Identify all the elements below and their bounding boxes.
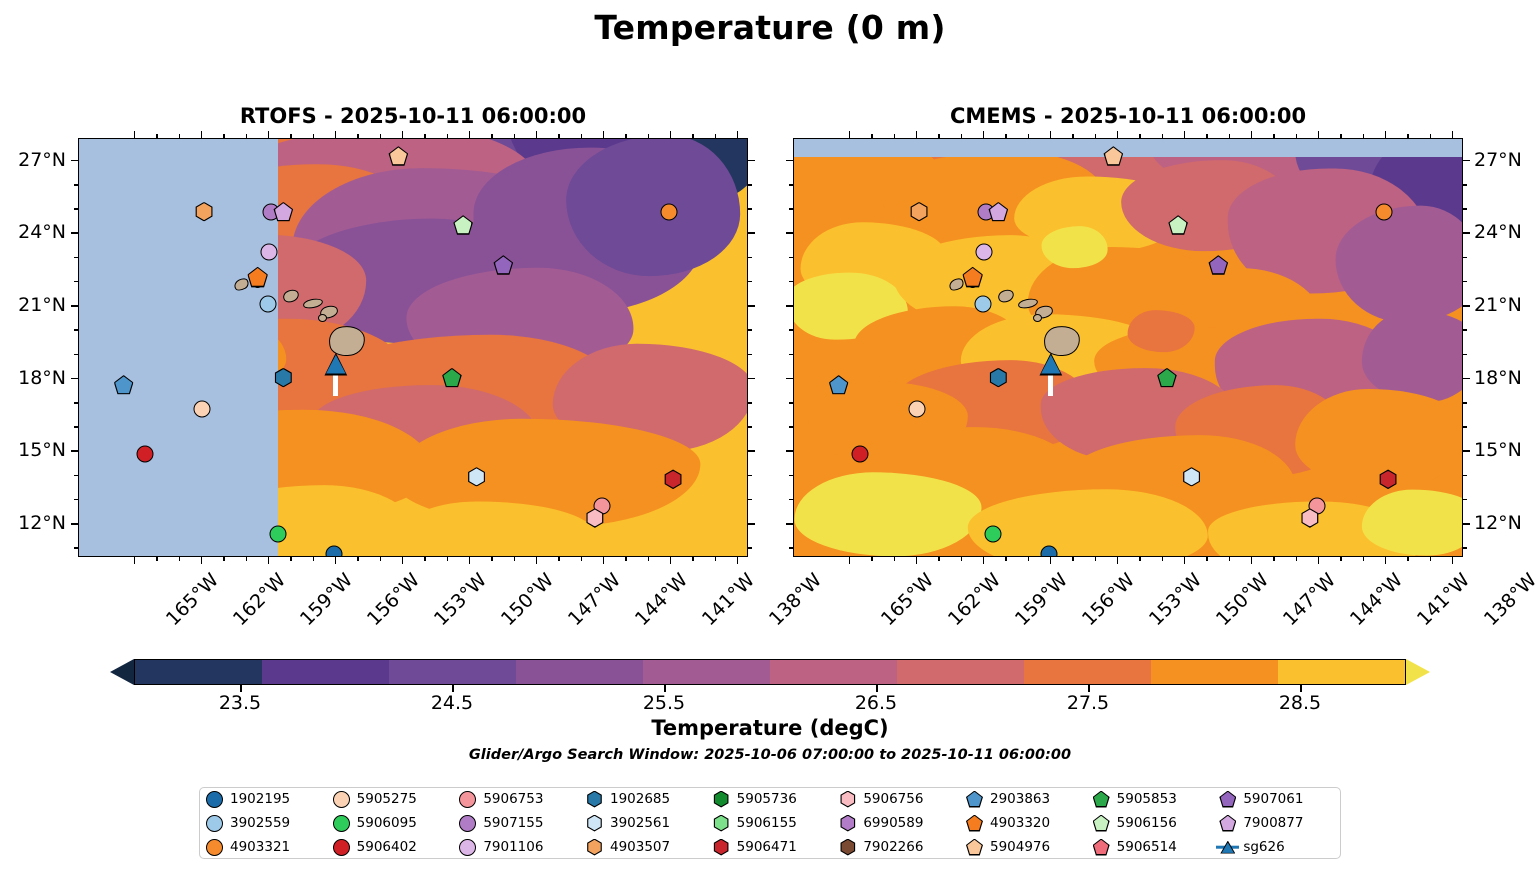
marker-4903507-fill xyxy=(196,203,213,220)
legend-item-5906402[interactable]: 5906402 xyxy=(327,835,454,859)
panel-title-cmems: CMEMS - 2025-10-11 06:00:00 xyxy=(793,104,1463,128)
x-tick-label: 141°W xyxy=(698,569,759,630)
x-tick-minor xyxy=(648,557,650,561)
x-tick-minor xyxy=(313,557,315,561)
legend-hex-outline xyxy=(586,839,603,856)
colorbar-band-3 xyxy=(516,660,643,684)
legend-marker-circle-icon xyxy=(333,839,350,856)
y-tick-major xyxy=(748,160,755,162)
x-tick-minor xyxy=(715,557,717,561)
legend-label: 5907155 xyxy=(483,815,543,831)
y-tick-major xyxy=(71,305,78,307)
colorbar-tick xyxy=(876,685,878,692)
legend-label: 1902685 xyxy=(610,791,670,807)
no-data-region-rtofs xyxy=(79,139,278,556)
temperature-contour-blob xyxy=(1362,489,1462,556)
legend-hex-outline xyxy=(586,815,603,832)
legend-label: 3902561 xyxy=(610,815,670,831)
x-tick-major-top xyxy=(1050,131,1052,138)
legend-marker-circle-icon xyxy=(206,839,223,856)
y-tick-minor xyxy=(1463,475,1467,477)
x-tick-major-top xyxy=(268,131,270,138)
legend-item-sg626[interactable]: sg626 xyxy=(1213,835,1340,859)
x-tick-minor xyxy=(871,557,873,561)
marker-3902561-fill xyxy=(1183,468,1200,485)
x-tick-minor xyxy=(357,557,359,561)
x-tick-label: 153°W xyxy=(430,569,491,630)
x-tick-major-top xyxy=(1385,131,1387,138)
x-tick-label: 150°W xyxy=(1212,569,1273,630)
x-tick-minor xyxy=(1229,557,1231,561)
x-tick-label: 150°W xyxy=(497,569,558,630)
hawaii-island-outline xyxy=(1033,314,1042,322)
legend-item-4903320[interactable]: 4903320 xyxy=(960,811,1087,835)
legend-marker-circle-icon xyxy=(206,815,223,832)
legend-marker-pent-icon xyxy=(966,815,983,832)
legend-hex-fill xyxy=(841,816,855,830)
x-tick-minor xyxy=(1340,557,1342,561)
temperature-contour-blob xyxy=(567,139,741,277)
legend-label: 5906156 xyxy=(1117,815,1177,831)
y-tick-major xyxy=(748,450,755,452)
x-tick-label: 165°W xyxy=(162,569,223,630)
x-tick-label: 162°W xyxy=(229,569,290,630)
y-tick-minor xyxy=(748,184,752,186)
x-tick-minor xyxy=(581,557,583,561)
colorbar-extend-high xyxy=(1406,659,1430,685)
legend-item-3902559[interactable]: 3902559 xyxy=(200,811,327,835)
x-tick-minor xyxy=(1028,557,1030,561)
x-tick-major xyxy=(201,557,203,564)
x-tick-label: 141°W xyxy=(1413,569,1474,630)
marker-5906471-fill xyxy=(1380,471,1397,488)
x-tick-major xyxy=(737,557,739,564)
legend-hex-outline xyxy=(713,815,730,832)
legend-marker-pent-icon xyxy=(966,839,983,856)
y-tick-minor xyxy=(748,426,752,428)
y-tick-minor xyxy=(1463,402,1467,404)
legend-hex-outline xyxy=(586,791,603,808)
legend-label: 5906514 xyxy=(1117,839,1177,855)
marker-5906095[interactable] xyxy=(269,525,286,542)
legend-pent-outline xyxy=(1093,839,1110,856)
legend-item-2903863[interactable]: 2903863 xyxy=(960,787,1087,811)
legend-label: 4903321 xyxy=(230,839,290,855)
temperature-contour-blob xyxy=(1128,310,1195,352)
legend-label: 5906471 xyxy=(737,839,797,855)
legend-circle-icon xyxy=(459,791,476,808)
legend-pent-fill xyxy=(1094,792,1108,806)
y-tick-label-right: 15°N xyxy=(1474,439,1540,461)
y-tick-major xyxy=(748,232,755,234)
legend-marker-pent-icon xyxy=(1093,791,1110,808)
y-tick-major xyxy=(1463,232,1470,234)
legend-item-1902685[interactable]: 1902685 xyxy=(580,787,707,811)
x-tick-minor xyxy=(625,557,627,561)
x-tick-minor xyxy=(447,557,449,561)
legend-label: sg626 xyxy=(1243,839,1284,855)
x-tick-major xyxy=(670,557,672,564)
y-tick-minor xyxy=(748,402,752,404)
x-tick-label: 144°W xyxy=(631,569,692,630)
x-tick-major-top xyxy=(1117,131,1119,138)
legend-hex-outline xyxy=(713,839,730,856)
legend-item-7902266[interactable]: 7902266 xyxy=(833,835,960,859)
marker-1902195[interactable] xyxy=(325,546,342,556)
glider-track-line xyxy=(1048,374,1053,396)
y-tick-major xyxy=(1463,378,1470,380)
legend-item-5904976[interactable]: 5904976 xyxy=(960,835,1087,859)
y-tick-minor xyxy=(1463,184,1467,186)
x-tick-label: 147°W xyxy=(564,569,625,630)
legend-pent-outline xyxy=(966,791,983,808)
colorbar-band-4 xyxy=(643,660,770,684)
legend-pent-outline xyxy=(966,815,983,832)
y-tick-major xyxy=(71,450,78,452)
legend-circle-icon xyxy=(333,839,350,856)
marker-5906402[interactable] xyxy=(851,445,868,462)
y-tick-major xyxy=(71,232,78,234)
legend-marker-circle-icon xyxy=(459,839,476,856)
legend-hex-outline xyxy=(713,791,730,808)
colorbar-extend-low xyxy=(110,659,134,685)
legend-marker-hex-icon xyxy=(586,791,603,808)
x-tick-label: 162°W xyxy=(944,569,1005,630)
x-tick-major xyxy=(1117,557,1119,564)
legend-marker-pent-icon xyxy=(966,791,983,808)
x-tick-label: 153°W xyxy=(1145,569,1206,630)
y-tick-label-left: 27°N xyxy=(0,149,66,171)
x-tick-major-top xyxy=(1251,131,1253,138)
colorbar-band-1 xyxy=(262,660,389,684)
x-tick-major xyxy=(134,557,136,564)
y-tick-minor xyxy=(748,329,752,331)
colorbar-tick xyxy=(1300,685,1302,692)
legend-item-5906471[interactable]: 5906471 xyxy=(707,835,834,859)
x-tick-major xyxy=(1050,557,1052,564)
legend-pent-fill xyxy=(967,840,981,854)
colorbar-band-7 xyxy=(1024,660,1151,684)
x-tick-minor xyxy=(961,557,963,561)
x-tick-minor xyxy=(156,557,158,561)
x-tick-label: 147°W xyxy=(1279,569,1340,630)
legend-marker-hex-icon xyxy=(713,815,730,832)
legend-item-6990589[interactable]: 6990589 xyxy=(833,811,960,835)
colorbar-tick-label: 26.5 xyxy=(855,692,897,714)
x-tick-major-top xyxy=(1184,131,1186,138)
legend-pent-fill xyxy=(1094,840,1108,854)
legend-marker-hex-icon xyxy=(839,791,856,808)
glider-track-line xyxy=(333,374,338,396)
legend-label: 5905736 xyxy=(737,791,797,807)
y-tick-major xyxy=(71,523,78,525)
legend-label: 5906155 xyxy=(737,815,797,831)
x-tick-minor xyxy=(692,557,694,561)
y-tick-minor xyxy=(1463,499,1467,501)
legend-item-5906514[interactable]: 5906514 xyxy=(1087,835,1214,859)
y-tick-minor xyxy=(748,547,752,549)
legend-hex-outline xyxy=(839,791,856,808)
y-tick-minor xyxy=(1463,354,1467,356)
x-tick-major xyxy=(1251,557,1253,564)
legend-item-5905275[interactable]: 5905275 xyxy=(327,787,454,811)
marker-5905275[interactable] xyxy=(908,401,925,418)
marker-7901106[interactable] xyxy=(975,243,992,260)
legend-marker-hex-icon xyxy=(713,791,730,808)
y-tick-major xyxy=(748,523,755,525)
temperature-contour-blob xyxy=(1295,389,1462,489)
colorbar xyxy=(110,659,1430,685)
x-tick-minor xyxy=(1095,557,1097,561)
marker-1902195[interactable] xyxy=(1040,546,1057,556)
y-tick-minor xyxy=(748,475,752,477)
colorbar-tick-label: 23.5 xyxy=(219,692,261,714)
legend-pent-outline xyxy=(1219,791,1236,808)
legend-marker-circle-icon xyxy=(459,815,476,832)
legend-hex-outline xyxy=(839,815,856,832)
legend-label: 1902195 xyxy=(230,791,290,807)
x-tick-major-top xyxy=(737,131,739,138)
legend-item-5905853[interactable]: 5905853 xyxy=(1087,787,1214,811)
x-tick-major-top xyxy=(983,131,985,138)
y-tick-label-right: 18°N xyxy=(1474,367,1540,389)
temperature-contour-blob xyxy=(1041,227,1108,269)
y-tick-label-left: 12°N xyxy=(0,512,66,534)
colorbar-band-5 xyxy=(770,660,897,684)
legend-label: 5906756 xyxy=(863,791,923,807)
legend-circle-icon xyxy=(459,815,476,832)
x-tick-minor xyxy=(1430,557,1432,561)
legend-hex-fill xyxy=(587,816,601,830)
x-tick-minor xyxy=(1072,557,1074,561)
legend-pent-fill xyxy=(1221,816,1235,830)
x-tick-major xyxy=(1452,557,1454,564)
y-tick-label-left: 21°N xyxy=(0,294,66,316)
legend-item-7901106[interactable]: 7901106 xyxy=(453,835,580,859)
x-tick-label: 156°W xyxy=(1078,569,1139,630)
marker-7901106[interactable] xyxy=(260,243,277,260)
legend-marker-pent-icon xyxy=(1093,815,1110,832)
legend-item-4903507[interactable]: 4903507 xyxy=(580,835,707,859)
platform-legend: 1902195590527559067531902685590573659067… xyxy=(199,787,1341,859)
legend-marker-circle-icon xyxy=(206,791,223,808)
legend-marker-pent-icon xyxy=(1093,839,1110,856)
legend-marker-circle-icon xyxy=(459,791,476,808)
legend-pent-fill xyxy=(967,792,981,806)
legend-item-5907155[interactable]: 5907155 xyxy=(453,811,580,835)
legend-label: 5905853 xyxy=(1117,791,1177,807)
x-tick-minor xyxy=(558,557,560,561)
legend-circle-icon xyxy=(206,791,223,808)
x-tick-major-top xyxy=(603,131,605,138)
y-tick-minor xyxy=(1463,281,1467,283)
x-tick-minor xyxy=(1162,557,1164,561)
hawaii-island-outline xyxy=(318,314,327,322)
legend-marker-pent-icon xyxy=(1219,791,1236,808)
y-tick-major xyxy=(786,305,793,307)
colorbar-tick-label: 24.5 xyxy=(431,692,473,714)
legend-circle-icon xyxy=(333,815,350,832)
legend-circle-icon xyxy=(333,791,350,808)
legend-circle-icon xyxy=(206,815,223,832)
x-tick-major xyxy=(1385,557,1387,564)
panel-title-rtofs: RTOFS - 2025-10-11 06:00:00 xyxy=(78,104,748,128)
y-tick-label-left: 15°N xyxy=(0,439,66,461)
colorbar-bands xyxy=(134,659,1406,685)
x-tick-minor xyxy=(424,557,426,561)
x-tick-minor xyxy=(1273,557,1275,561)
legend-item-4903321[interactable]: 4903321 xyxy=(200,835,327,859)
colorbar-tick xyxy=(664,685,666,692)
legend-item-5906753[interactable]: 5906753 xyxy=(453,787,580,811)
y-tick-label-right: 24°N xyxy=(1474,221,1540,243)
map-panel-rtofs[interactable] xyxy=(78,138,748,557)
marker-3902561-fill xyxy=(468,468,485,485)
legend-pent-fill xyxy=(1221,792,1235,806)
legend-item-3902561[interactable]: 3902561 xyxy=(580,811,707,835)
x-tick-major xyxy=(983,557,985,564)
legend-hex-fill xyxy=(841,840,855,854)
x-tick-minor xyxy=(514,557,516,561)
x-tick-minor xyxy=(1296,557,1298,561)
y-tick-minor xyxy=(748,499,752,501)
x-tick-major-top xyxy=(849,131,851,138)
x-tick-label: 156°W xyxy=(363,569,424,630)
x-tick-major-top xyxy=(1318,131,1320,138)
y-tick-minor xyxy=(748,354,752,356)
y-tick-major xyxy=(786,450,793,452)
x-tick-major-top xyxy=(201,131,203,138)
marker-1902685-fill xyxy=(990,369,1007,386)
legend-item-7900877[interactable]: 7900877 xyxy=(1213,811,1340,835)
x-tick-minor xyxy=(1407,557,1409,561)
y-tick-major xyxy=(786,160,793,162)
x-tick-minor xyxy=(223,557,225,561)
marker-4903321[interactable] xyxy=(1375,203,1392,220)
colorbar-tick-label: 28.5 xyxy=(1279,692,1321,714)
y-tick-minor xyxy=(1463,547,1467,549)
colorbar-tick xyxy=(240,685,242,692)
x-tick-major-top xyxy=(134,131,136,138)
colorbar-tick xyxy=(1088,685,1090,692)
x-tick-major xyxy=(402,557,404,564)
y-tick-minor xyxy=(748,257,752,259)
y-tick-major xyxy=(786,523,793,525)
legend-label: 2903863 xyxy=(990,791,1050,807)
legend-marker-circle-icon xyxy=(333,791,350,808)
y-tick-major xyxy=(1463,450,1470,452)
marker-5905275[interactable] xyxy=(193,401,210,418)
legend-item-5905736[interactable]: 5905736 xyxy=(707,787,834,811)
legend-item-5906095[interactable]: 5906095 xyxy=(327,811,454,835)
y-tick-major xyxy=(71,378,78,380)
no-data-region-cmems xyxy=(794,139,1462,157)
x-tick-major-top xyxy=(469,131,471,138)
legend-item-5907061[interactable]: 5907061 xyxy=(1213,787,1340,811)
y-tick-minor xyxy=(748,281,752,283)
x-tick-minor xyxy=(179,557,181,561)
legend-item-5906156[interactable]: 5906156 xyxy=(1087,811,1214,835)
marker-3902559[interactable] xyxy=(974,295,991,312)
y-tick-label-right: 12°N xyxy=(1474,512,1540,534)
x-tick-major-top xyxy=(670,131,672,138)
x-tick-label: 144°W xyxy=(1346,569,1407,630)
colorbar-band-6 xyxy=(897,660,1024,684)
y-tick-major xyxy=(786,378,793,380)
legend-pent-outline xyxy=(1093,815,1110,832)
y-tick-label-right: 21°N xyxy=(1474,294,1540,316)
x-tick-label: 159°W xyxy=(296,569,357,630)
legend-hex-fill xyxy=(714,840,728,854)
y-tick-major xyxy=(748,305,755,307)
y-tick-major xyxy=(1463,305,1470,307)
legend-pent-fill xyxy=(1094,816,1108,830)
x-tick-major-top xyxy=(1452,131,1454,138)
map-panel-cmems[interactable] xyxy=(793,138,1463,557)
x-tick-major xyxy=(916,557,918,564)
x-tick-major xyxy=(849,557,851,564)
marker-5906095[interactable] xyxy=(984,525,1001,542)
legend-item-1902195[interactable]: 1902195 xyxy=(200,787,327,811)
colorbar-tick-label: 25.5 xyxy=(643,692,685,714)
x-tick-minor xyxy=(491,557,493,561)
marker-4903507-fill xyxy=(911,203,928,220)
x-tick-major-top xyxy=(536,131,538,138)
legend-label: 3902559 xyxy=(230,815,290,831)
y-tick-minor xyxy=(1463,208,1467,210)
x-tick-minor xyxy=(1005,557,1007,561)
x-tick-major xyxy=(1318,557,1320,564)
y-tick-minor xyxy=(1463,329,1467,331)
page-title: Temperature (0 m) xyxy=(0,8,1540,47)
legend-label: 4903507 xyxy=(610,839,670,855)
legend-label: 5906095 xyxy=(357,815,417,831)
x-tick-minor xyxy=(1363,557,1365,561)
y-tick-major xyxy=(71,160,78,162)
y-tick-minor xyxy=(748,208,752,210)
legend-item-5906756[interactable]: 5906756 xyxy=(833,787,960,811)
marker-5906402[interactable] xyxy=(136,445,153,462)
legend-marker-hex-icon xyxy=(713,839,730,856)
x-tick-label: 165°W xyxy=(877,569,938,630)
y-tick-minor xyxy=(1463,257,1467,259)
colorbar-tick xyxy=(452,685,454,692)
x-tick-major-top xyxy=(402,131,404,138)
legend-label: 5906402 xyxy=(357,839,417,855)
legend-hex-fill xyxy=(587,792,601,806)
legend-marker-circle-icon xyxy=(333,815,350,832)
marker-4903321[interactable] xyxy=(660,203,677,220)
legend-label: 6990589 xyxy=(863,815,923,831)
legend-hex-fill xyxy=(841,792,855,806)
x-tick-minor xyxy=(894,557,896,561)
search-window-caption: Glider/Argo Search Window: 2025-10-06 07… xyxy=(0,747,1540,763)
y-tick-major xyxy=(748,378,755,380)
x-tick-major xyxy=(268,557,270,564)
legend-hex-fill xyxy=(587,840,601,854)
legend-hex-fill xyxy=(714,792,728,806)
legend-item-5906155[interactable]: 5906155 xyxy=(707,811,834,835)
x-tick-major xyxy=(536,557,538,564)
legend-label: 5906753 xyxy=(483,791,543,807)
colorbar-axis-label: Temperature (degC) xyxy=(0,716,1540,740)
y-tick-minor xyxy=(1463,426,1467,428)
y-tick-label-left: 18°N xyxy=(0,367,66,389)
legend-pent-outline xyxy=(1219,815,1236,832)
marker-3902559[interactable] xyxy=(259,295,276,312)
colorbar-band-9 xyxy=(1278,660,1405,684)
colorbar-tick-label: 27.5 xyxy=(1067,692,1109,714)
